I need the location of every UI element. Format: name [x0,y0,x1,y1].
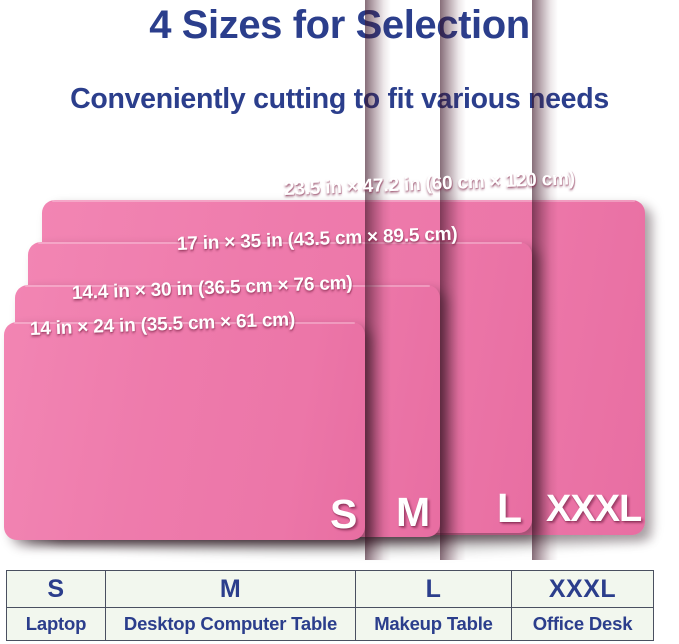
table-row-uses: Laptop Desktop Computer Table Makeup Tab… [7,608,654,641]
table-cell-size-m: M [106,571,356,608]
table-cell-size-s: S [7,571,106,608]
mat-dimension-label-xxxl: 23.5 in × 47.2 in (60 cm × 120 cm) [284,168,576,201]
table-cell-use-m: Desktop Computer Table [106,608,356,641]
table-row-sizes: S M L XXXL [7,571,654,608]
mat-size-letter-l: L [497,488,522,529]
mat-size-letter-m: M [396,492,430,533]
mat-size-illustration: 23.5 in × 47.2 in (60 cm × 120 cm) 17 in… [0,0,679,560]
table-cell-use-s: Laptop [7,608,106,641]
mat-size-letter-xxxl: XXXL [546,490,641,528]
mat-size-letter-s: S [330,494,357,535]
mat-sheet-s [4,322,365,540]
table-cell-use-xxxl: Office Desk [512,608,654,641]
table-cell-size-l: L [356,571,512,608]
table-cell-size-xxxl: XXXL [512,571,654,608]
table-cell-use-l: Makeup Table [356,608,512,641]
size-usage-table: S M L XXXL Laptop Desktop Computer Table… [6,570,654,641]
